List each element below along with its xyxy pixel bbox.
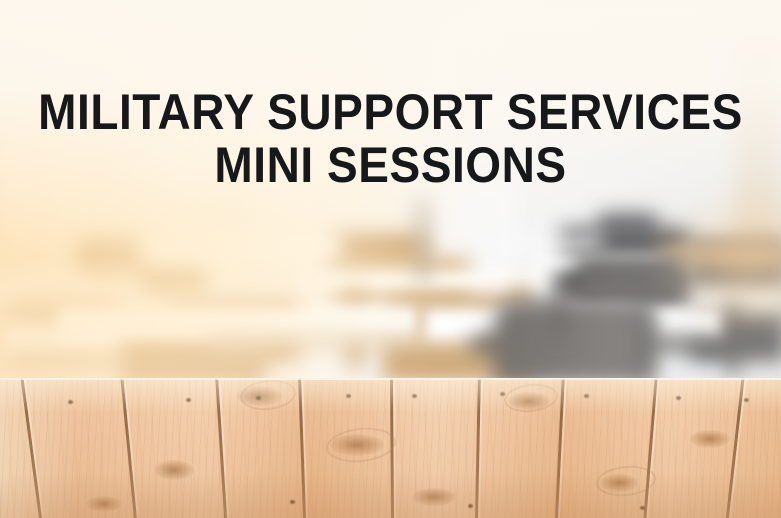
headline-line-2: MINI SESSIONS <box>31 139 750 192</box>
promo-banner: MILITARY SUPPORT SERVICES MINI SESSIONS <box>0 0 781 518</box>
tabletop-front-edge <box>0 378 781 380</box>
wooden-tabletop <box>0 378 781 518</box>
wood-bottom-shadow <box>0 472 781 518</box>
wood-knot <box>690 430 730 448</box>
headline-line-1: MILITARY SUPPORT SERVICES <box>31 86 750 139</box>
wood-top-highlight <box>0 378 781 412</box>
headline-block: MILITARY SUPPORT SERVICES MINI SESSIONS <box>0 86 781 192</box>
